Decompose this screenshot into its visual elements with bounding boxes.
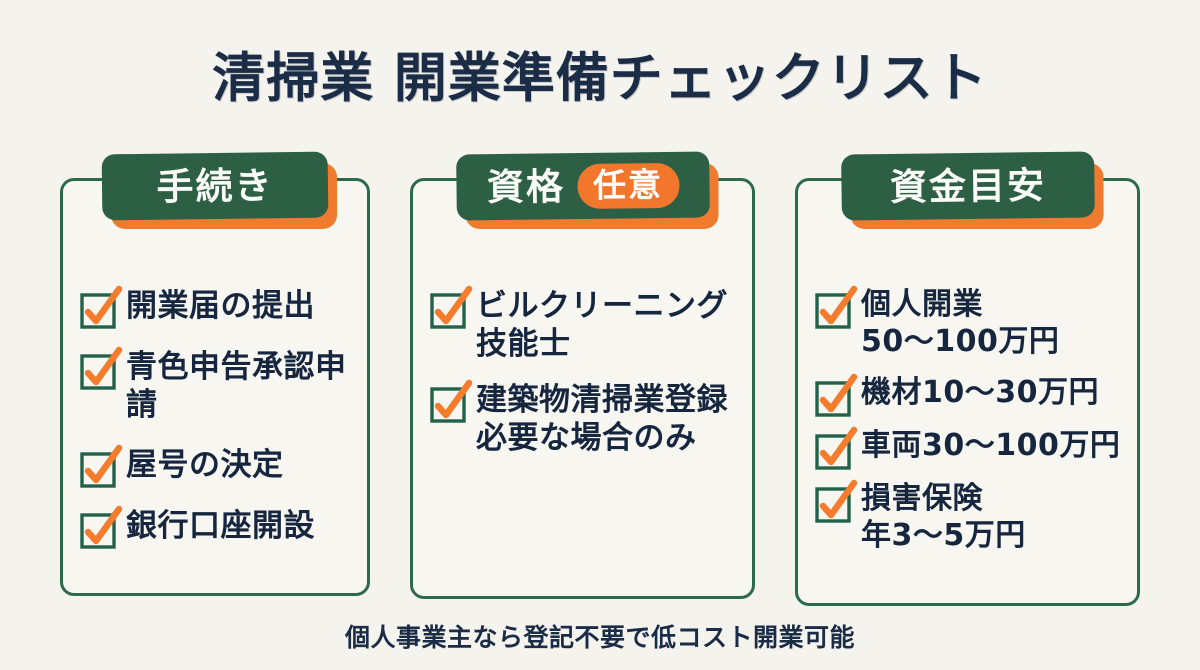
optional-badge: 任意: [576, 162, 679, 208]
list-item[interactable]: 銀行口座開設: [81, 507, 357, 546]
checklist-items-qualifications: ビルクリーニング 技能士 建築物清掃業登録 必要な場合のみ: [431, 287, 742, 476]
card-header-qualifications: 資格 任意: [456, 153, 709, 225]
list-item-label: 青色申告承認申請: [126, 348, 357, 424]
card-header-funding: 資金目安: [841, 153, 1094, 225]
checkbox-checked-icon[interactable]: [81, 451, 115, 485]
list-item-label: 開業届の提出: [126, 287, 315, 325]
checklist-card-funding: 資金目安 個人開業 50〜100万円: [795, 178, 1140, 606]
checklist-board: 手続き 開業届の提出 青: [60, 178, 1140, 603]
header-label: 資格: [486, 168, 564, 206]
list-item[interactable]: 車両30〜100万円: [816, 428, 1127, 467]
list-item-label: 機材10〜30万円: [861, 375, 1099, 412]
checkbox-checked-icon[interactable]: [816, 380, 850, 414]
header-badge: 資金目安: [841, 151, 1095, 220]
header-label: 資金目安: [889, 167, 1045, 206]
checkbox-checked-icon[interactable]: [816, 433, 850, 467]
list-item[interactable]: 建築物清掃業登録 必要な場合のみ: [431, 381, 742, 457]
list-item-label: 銀行口座開設: [126, 507, 315, 545]
checkbox-checked-icon[interactable]: [816, 486, 850, 520]
list-item-label: 個人開業 50〜100万円: [861, 287, 1059, 361]
list-item-label: 損害保険 年3〜5万円: [861, 481, 1026, 555]
list-item-label: 屋号の決定: [126, 446, 284, 484]
checklist-card-qualifications: 資格 任意 ビルクリーニング 技能士: [410, 178, 755, 599]
optional-badge-label: 任意: [592, 168, 662, 202]
list-item[interactable]: 個人開業 50〜100万円: [816, 287, 1127, 361]
list-item-label: 車両30〜100万円: [861, 428, 1120, 465]
list-item[interactable]: 屋号の決定: [81, 446, 357, 485]
list-item[interactable]: ビルクリーニング 技能士: [431, 287, 742, 363]
checklist-items-funding: 個人開業 50〜100万円 機材10〜30万円: [816, 287, 1127, 569]
checkbox-checked-icon[interactable]: [816, 292, 850, 326]
list-item[interactable]: 機材10〜30万円: [816, 375, 1127, 414]
list-item-label: ビルクリーニング 技能士: [476, 287, 728, 363]
header-label: 手続き: [156, 167, 273, 205]
checkbox-checked-icon[interactable]: [431, 386, 465, 420]
header-badge: 資格 任意: [456, 151, 710, 220]
checkbox-checked-icon[interactable]: [81, 512, 115, 546]
list-item[interactable]: 青色申告承認申請: [81, 348, 357, 424]
checklist-items-procedures: 開業届の提出 青色申告承認申請 屋号の決定: [81, 287, 357, 568]
checkbox-checked-icon[interactable]: [81, 353, 115, 387]
list-item-label: 建築物清掃業登録 必要な場合のみ: [476, 381, 728, 457]
list-item[interactable]: 損害保険 年3〜5万円: [816, 481, 1127, 555]
footer-note: 個人事業主なら登記不要で低コスト開業可能: [0, 618, 1200, 654]
checkbox-checked-icon[interactable]: [81, 292, 115, 326]
checklist-card-procedures: 手続き 開業届の提出 青: [60, 178, 370, 596]
card-header-procedures: 手続き: [102, 153, 328, 225]
page-title: 清掃業 開業準備チェックリスト: [0, 52, 1200, 105]
list-item[interactable]: 開業届の提出: [81, 287, 357, 326]
header-badge: 手続き: [102, 152, 329, 221]
checkbox-checked-icon[interactable]: [431, 292, 465, 326]
